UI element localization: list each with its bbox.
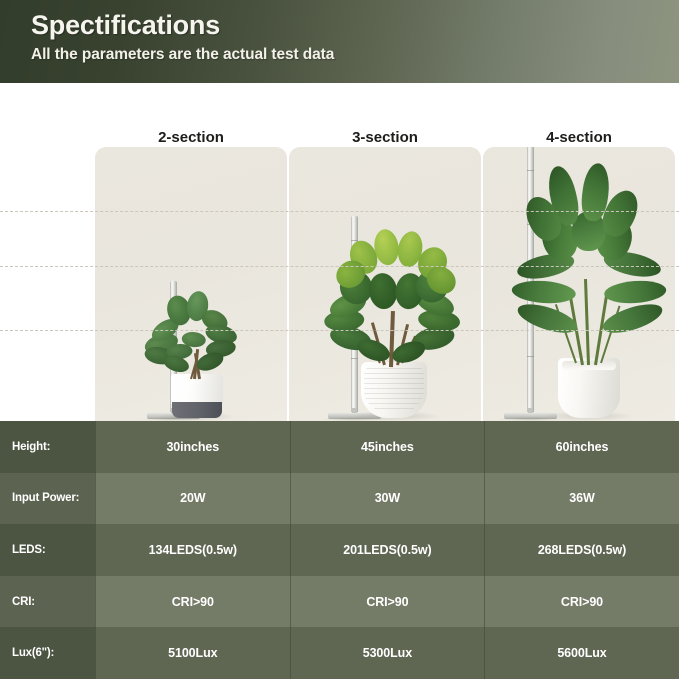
row-label-cri: CRI: [0,576,95,628]
cell-height-3-section: 45inches [290,421,485,473]
cell-leds-2-section: 134LEDS(0.5w) [95,524,290,576]
cell-height-4-section: 60inches [484,421,679,473]
cell-leds-4-section: 268LEDS(0.5w) [484,524,679,576]
product-showcase: 2-section 3-section 4-section [0,83,679,421]
column-header-4-section: 4-section [483,129,675,146]
table-row: LEDS: 134LEDS(0.5w) 201LEDS(0.5w) 268LED… [0,524,679,576]
product-panel-2-section [95,147,287,421]
table-row: Input Power: 20W 30W 36W [0,473,679,525]
product-panel-4-section [483,147,675,421]
cell-lux-3-section: 5300Lux [290,627,485,679]
product-panel-3-section [289,147,481,421]
row-label-input-power: Input Power: [0,473,95,525]
cell-height-2-section: 30inches [95,421,290,473]
bird-of-paradise-icon [509,159,669,421]
page-title: Spectifications [31,10,220,41]
table-row: CRI: CRI>90 CRI>90 CRI>90 [0,576,679,628]
table-row: Height: 30inches 45inches 60inches [0,421,679,473]
rubber-plant-icon [137,271,257,421]
header-banner: Spectifications All the parameters are t… [0,0,679,83]
column-header-3-section: 3-section [289,129,481,146]
column-header-2-section: 2-section [95,129,287,146]
row-label-leds: LEDS: [0,524,95,576]
cell-leds-3-section: 201LEDS(0.5w) [290,524,485,576]
page-subtitle: All the parameters are the actual test d… [31,46,334,64]
cell-cri-4-section: CRI>90 [484,576,679,628]
fiddle-leaf-fig-icon [319,206,469,421]
cell-input-power-4-section: 36W [484,473,679,525]
row-label-lux: Lux(6"): [0,627,95,679]
row-label-height: Height: [0,421,95,473]
cell-lux-4-section: 5600Lux [484,627,679,679]
cell-cri-3-section: CRI>90 [290,576,485,628]
cell-lux-2-section: 5100Lux [95,627,290,679]
specifications-table: Height: 30inches 45inches 60inches Input… [0,421,679,679]
cell-input-power-2-section: 20W [95,473,290,525]
cell-cri-2-section: CRI>90 [95,576,290,628]
table-row: Lux(6"): 5100Lux 5300Lux 5600Lux [0,627,679,679]
cell-input-power-3-section: 30W [290,473,485,525]
